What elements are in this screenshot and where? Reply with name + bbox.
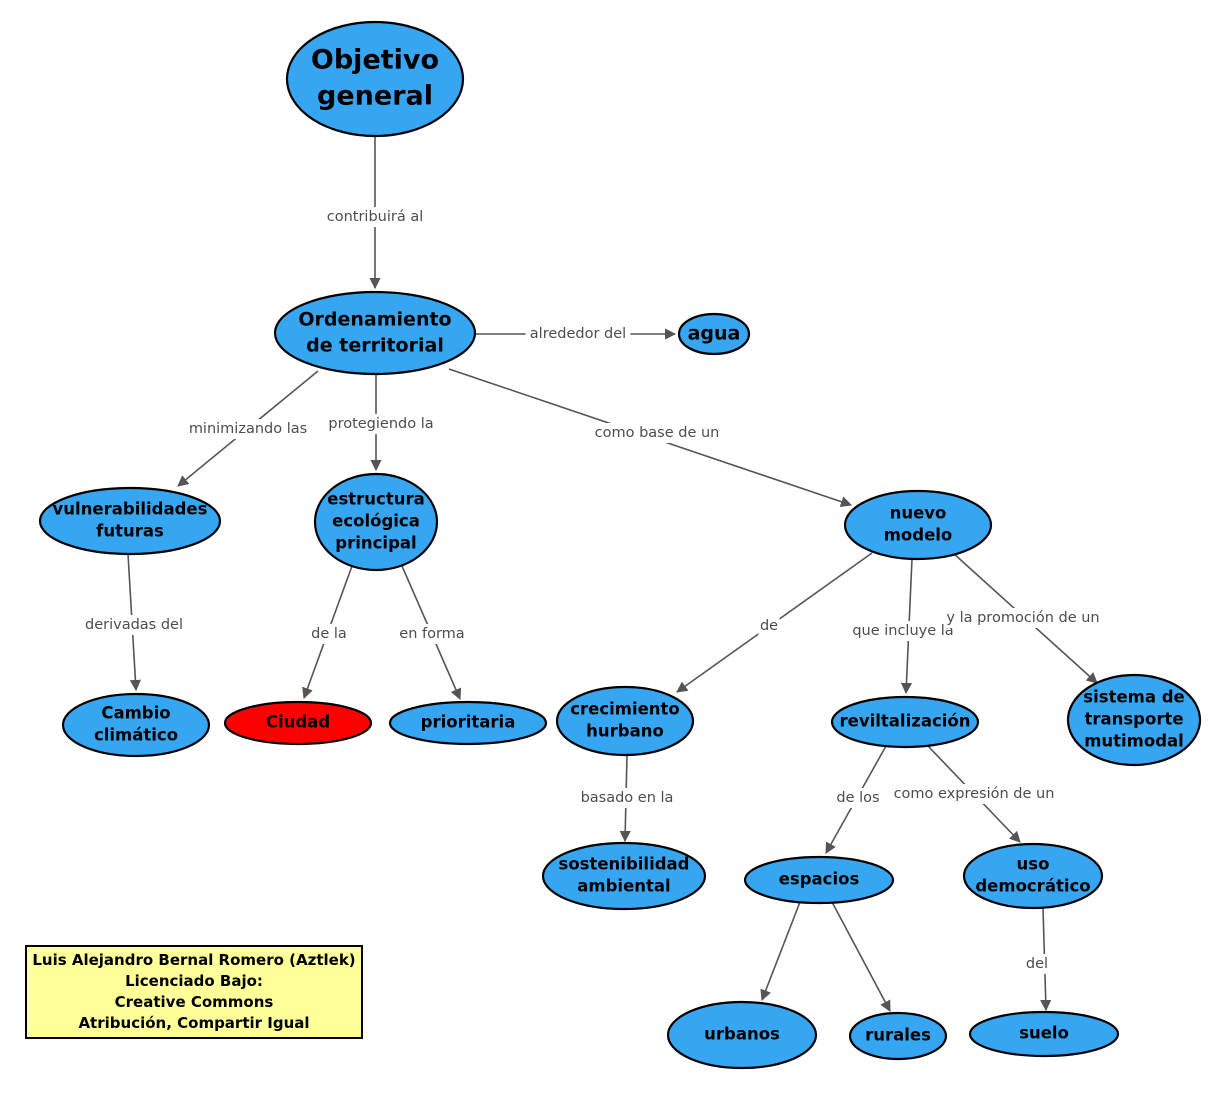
node-label-line: mutimodal <box>1084 732 1184 751</box>
edge-label: de la <box>311 626 347 642</box>
edge-label: de los <box>836 790 879 806</box>
node-ciudad[interactable]: Ciudad <box>225 702 371 744</box>
node-label-line: ambiental <box>577 877 670 896</box>
node-objetivo_general[interactable]: Objetivogeneral <box>287 22 463 136</box>
concept-map-svg: contribuirá alalrededor delminimizando l… <box>0 0 1231 1096</box>
edge-label: minimizando las <box>189 421 307 437</box>
node-vulnerabilidades[interactable]: vulnerabilidadesfuturas <box>40 488 220 554</box>
node-label-line: modelo <box>884 526 953 545</box>
node-label-line: uso <box>1017 855 1050 874</box>
node-rurales[interactable]: rurales <box>850 1013 946 1059</box>
credit-box: Luis Alejandro Bernal Romero (Aztlek)Lic… <box>26 946 362 1038</box>
node-espacios[interactable]: espacios <box>745 857 893 903</box>
node-label-line: democrático <box>975 877 1090 896</box>
node-label-line: general <box>317 81 433 112</box>
edge-label: como expresión de un <box>894 786 1055 802</box>
node-label-line: de territorial <box>306 335 444 357</box>
nodes-layer: ObjetivogeneralOrdenamientode territoria… <box>40 22 1200 1068</box>
node-label-line: prioritaria <box>421 713 516 732</box>
credit-line: Licenciado Bajo: <box>125 972 263 990</box>
credit-line: Atribución, Compartir Igual <box>78 1014 309 1032</box>
node-shape[interactable] <box>275 292 475 374</box>
node-label-line: vulnerabilidades <box>53 500 208 519</box>
node-label-line: Objetivo <box>311 45 439 76</box>
node-label-line: reviltalización <box>840 712 971 731</box>
node-label-line: crecimiento <box>570 700 680 719</box>
node-sostenibilidad[interactable]: sostenibilidadambiental <box>543 843 705 909</box>
node-label-line: principal <box>335 534 416 553</box>
edge-label: contribuirá al <box>327 209 424 225</box>
edge-label: del <box>1026 956 1048 972</box>
node-shape[interactable] <box>287 22 463 136</box>
edge-label: derivadas del <box>85 617 183 633</box>
node-label-line: estructura <box>327 490 424 509</box>
node-label-line: transporte <box>1084 710 1183 729</box>
node-crecimiento_hurbano[interactable]: crecimientohurbano <box>557 687 693 755</box>
edge-espacios-to-rurales <box>832 902 890 1011</box>
node-uso_democratico[interactable]: usodemocrático <box>964 844 1102 908</box>
node-label-line: nuevo <box>890 504 947 523</box>
node-label-line: rurales <box>865 1026 931 1045</box>
node-agua[interactable]: agua <box>679 314 749 354</box>
node-reviltalizacion[interactable]: reviltalización <box>832 697 978 747</box>
node-estructura[interactable]: estructuraecológicaprincipal <box>315 474 437 570</box>
node-label-line: Ciudad <box>266 713 330 732</box>
concept-map-canvas: contribuirá alalrededor delminimizando l… <box>0 0 1231 1096</box>
node-label-line: climático <box>94 726 178 745</box>
node-urbanos[interactable]: urbanos <box>668 1002 816 1068</box>
edge-label: basado en la <box>581 790 674 806</box>
node-label-line: futuras <box>96 522 164 541</box>
node-suelo[interactable]: suelo <box>970 1012 1118 1056</box>
node-label-line: Ordenamiento <box>298 309 451 331</box>
node-cambio_climatico[interactable]: Cambioclimático <box>63 694 209 756</box>
node-label-line: sostenibilidad <box>559 855 690 874</box>
edge-espacios-to-urbanos <box>762 902 800 1000</box>
edge-label: alrededor del <box>530 326 626 342</box>
edge-label: y la promoción de un <box>946 610 1099 626</box>
edge-label: protegiendo la <box>328 416 433 432</box>
node-prioritaria[interactable]: prioritaria <box>390 702 546 744</box>
node-label-line: espacios <box>779 870 860 889</box>
edge-label: como base de un <box>595 425 720 441</box>
node-label-line: sistema de <box>1083 688 1184 707</box>
node-nuevo_modelo[interactable]: nuevomodelo <box>845 491 991 559</box>
edge-label: de <box>760 618 778 634</box>
edge-label: en forma <box>399 626 464 642</box>
node-label-line: ecológica <box>332 512 420 531</box>
credit-line: Luis Alejandro Bernal Romero (Aztlek) <box>32 951 355 969</box>
node-label-line: Cambio <box>101 704 170 723</box>
edge-label: que incluye la <box>852 623 953 639</box>
node-label-line: urbanos <box>704 1025 780 1044</box>
node-sistema_transporte[interactable]: sistema detransportemutimodal <box>1068 675 1200 765</box>
node-label-line: hurbano <box>586 722 664 741</box>
credit-line: Creative Commons <box>115 993 274 1011</box>
node-label-line: suelo <box>1019 1024 1069 1043</box>
node-ordenamiento[interactable]: Ordenamientode territorial <box>275 292 475 374</box>
node-label-line: agua <box>688 323 741 345</box>
